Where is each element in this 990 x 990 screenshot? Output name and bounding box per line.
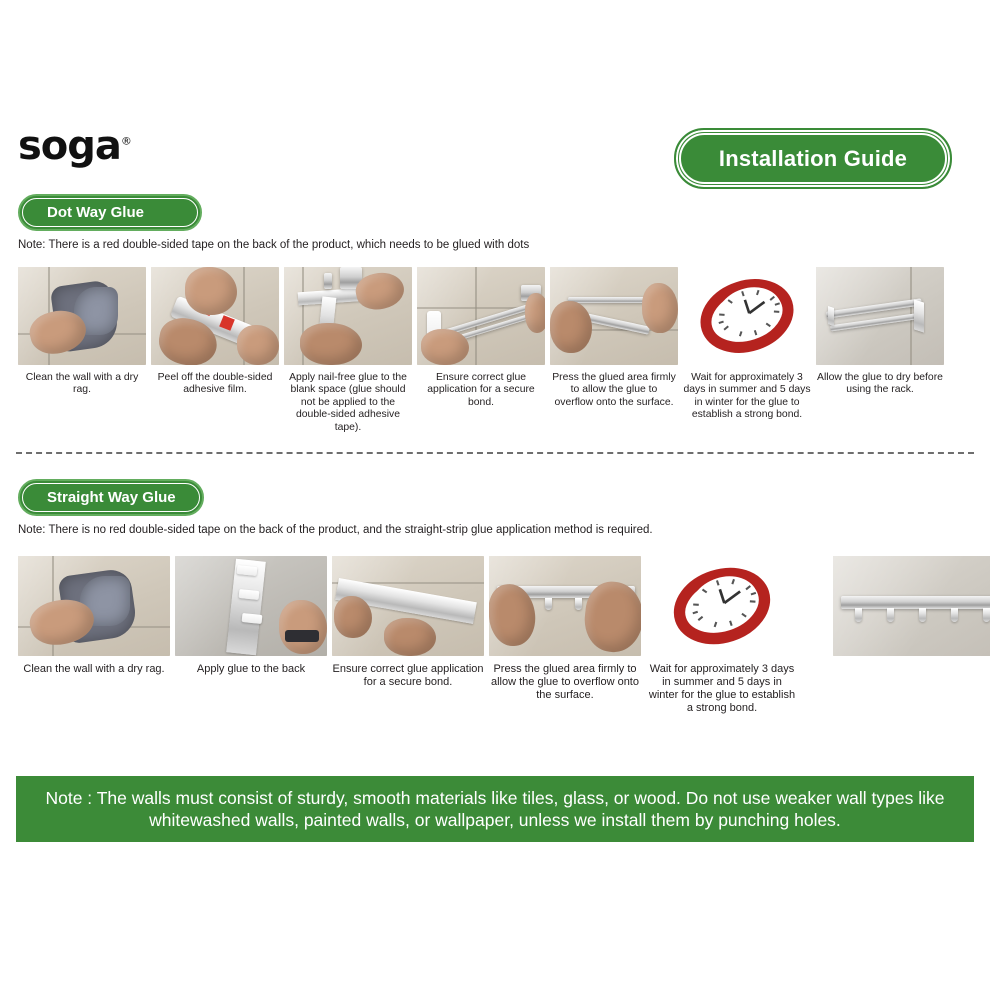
- step-cell: Peel off the double-sided adhesive film.: [151, 267, 279, 434]
- step-image-press-firmly: [550, 267, 678, 365]
- section-title-straight-way-glue: Straight Way Glue: [20, 489, 176, 506]
- footer-note-text: Note : The walls must consist of sturdy,…: [32, 787, 958, 831]
- step-cell: Clean the wall with a dry rag.: [18, 267, 146, 434]
- step-cell: Allow the glue to dry before using the r…: [816, 267, 944, 434]
- step-caption: Ensure correct glue application for a se…: [332, 663, 484, 689]
- step-image-press-firmly: [489, 556, 641, 656]
- step-image-clean-wall: [18, 267, 146, 365]
- steps-row-dot-way-glue: Clean the wall with a dry rag. Peel off …: [18, 267, 949, 434]
- step-cell: Press the glued area firmly to allow the…: [550, 267, 678, 434]
- clock-icon: [691, 273, 803, 359]
- page-title: Installation Guide: [719, 146, 907, 172]
- step-cell: Clean the wall with a dry rag.: [18, 556, 170, 715]
- section-divider: [16, 452, 974, 454]
- soga-logo: soga®: [18, 126, 131, 166]
- section-title-dot-way-glue: Dot Way Glue: [20, 204, 144, 221]
- step-cell: Wait for approximately 3 days in summer …: [683, 267, 811, 434]
- section-badge-dot-way-glue: Dot Way Glue: [18, 194, 202, 231]
- step-cell: Ensure correct glue application for a se…: [332, 556, 484, 715]
- step-image-correct-application: [332, 556, 484, 656]
- step-image-installed-hook-rail: [833, 556, 990, 656]
- section-note-dot-way-glue: Note: There is a red double-sided tape o…: [18, 239, 529, 251]
- step-image-peel-film: [151, 267, 279, 365]
- installation-guide-badge: Installation Guide: [674, 128, 952, 189]
- clock-icon: [664, 561, 780, 651]
- step-caption: Ensure correct glue application for a se…: [417, 372, 545, 409]
- soga-logo-text: soga: [18, 123, 121, 169]
- step-caption: Peel off the double-sided adhesive film.: [151, 372, 279, 397]
- step-caption: Press the glued area firmly to allow the…: [550, 372, 678, 409]
- step-image-clean-wall: [18, 556, 170, 656]
- step-image-wait-clock: [646, 556, 798, 656]
- footer-warning-note: Note : The walls must consist of sturdy,…: [16, 776, 974, 842]
- step-image-apply-glue: [284, 267, 412, 365]
- step-caption: Press the glued area firmly to allow the…: [489, 663, 641, 702]
- step-cell: Press the glued area firmly to allow the…: [489, 556, 641, 715]
- step-cell: Ensure correct glue application for a se…: [417, 267, 545, 434]
- step-caption: Apply nail-free glue to the blank space …: [284, 372, 412, 434]
- section-note-straight-way-glue: Note: There is no red double-sided tape …: [18, 524, 653, 536]
- step-caption: Allow the glue to dry before using the r…: [816, 372, 944, 397]
- step-caption: Clean the wall with a dry rag.: [23, 663, 164, 676]
- steps-row-straight-way-glue: Clean the wall with a dry rag. Apply glu…: [18, 556, 990, 715]
- step-cell: Wait for approximately 3 days in summer …: [646, 556, 798, 715]
- step-caption: Wait for approximately 3 days in summer …: [646, 663, 798, 715]
- step-image-apply-glue-back: [175, 556, 327, 656]
- step-cell: [833, 556, 990, 715]
- installation-guide-page: soga® Installation Guide Dot Way Glue No…: [0, 0, 990, 990]
- step-caption: Clean the wall with a dry rag.: [18, 372, 146, 397]
- step-image-wait-clock: [683, 267, 811, 365]
- step-image-correct-application: [417, 267, 545, 365]
- step-caption: Wait for approximately 3 days in summer …: [683, 372, 811, 422]
- step-caption: Apply glue to the back: [197, 663, 305, 676]
- registered-trademark-icon: ®: [121, 135, 131, 148]
- step-cell: Apply glue to the back: [175, 556, 327, 715]
- step-image-installed-rack: [816, 267, 944, 365]
- step-cell: Apply nail-free glue to the blank space …: [284, 267, 412, 434]
- section-badge-straight-way-glue: Straight Way Glue: [18, 479, 204, 516]
